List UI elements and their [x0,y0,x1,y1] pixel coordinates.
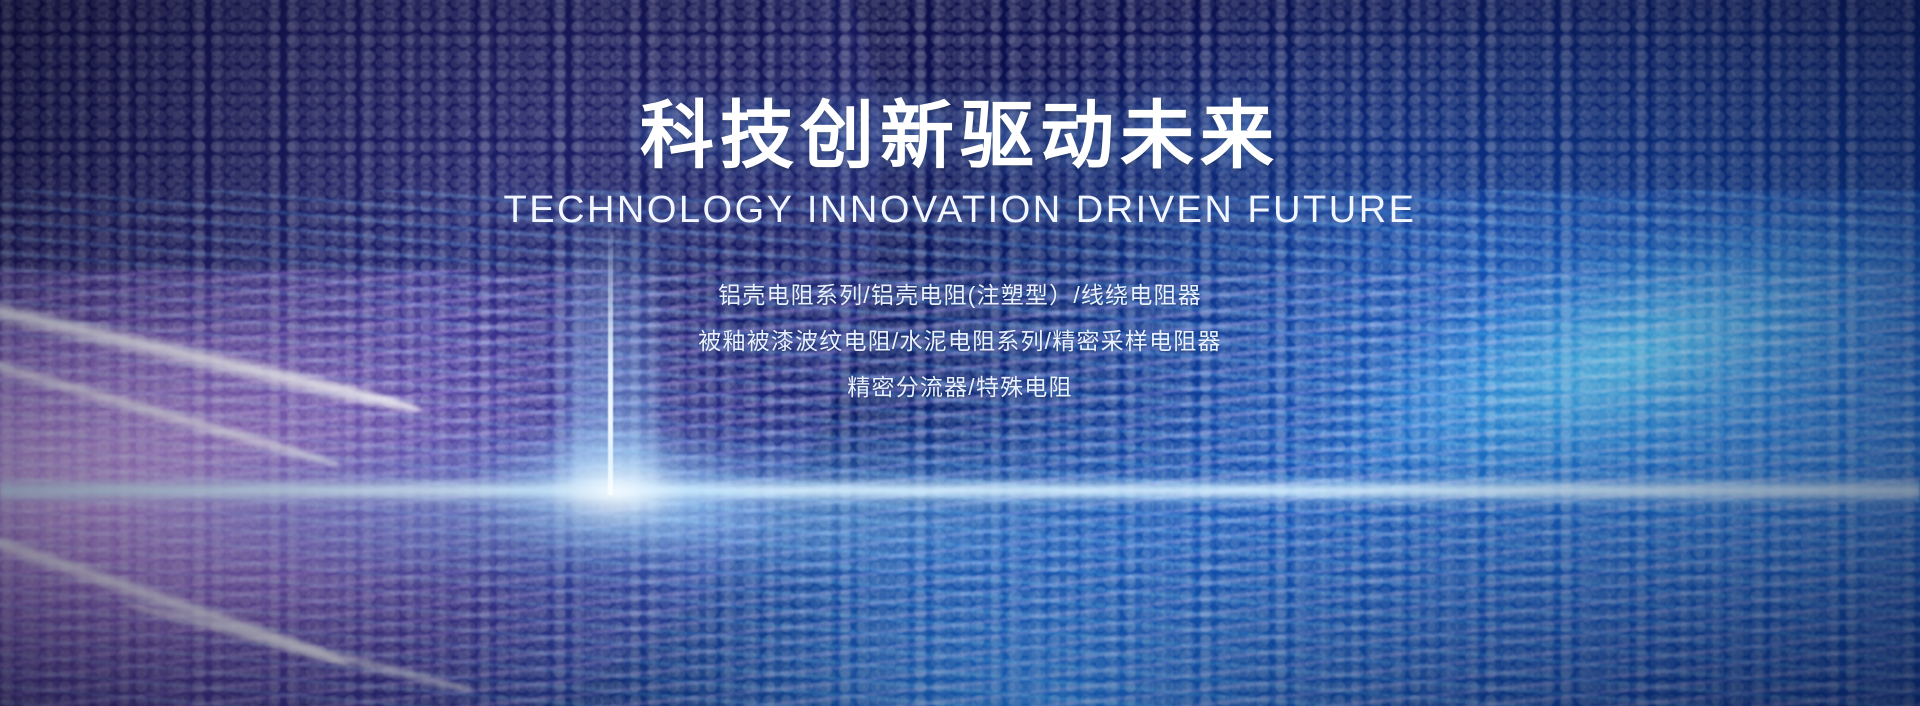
wave-crest-highlight-3 [0,517,352,675]
wave-crest-highlight-4 [123,597,476,700]
hero-banner: 科技创新驱动未来 TECHNOLOGY INNOVATION DRIVEN FU… [0,0,1920,706]
product-line-1: 铝壳电阻系列/铝壳电阻(注塑型）/线绕电阻器 [510,272,1410,318]
light-beam-burst [470,430,760,560]
product-line-2: 被釉被漆波纹电阻/水泥电阻系列/精密采样电阻器 [510,318,1410,364]
product-line-3: 精密分流器/特殊电阻 [510,364,1410,410]
horizon-glow-line [0,476,1920,506]
product-list: 铝壳电阻系列/铝壳电阻(注塑型）/线绕电阻器 被釉被漆波纹电阻/水泥电阻系列/精… [510,272,1410,410]
banner-title: 科技创新驱动未来 [0,0,1920,176]
horizon-glow-wide [0,430,1920,600]
banner-content: 科技创新驱动未来 TECHNOLOGY INNOVATION DRIVEN FU… [0,0,1920,410]
banner-subtitle: TECHNOLOGY INNOVATION DRIVEN FUTURE [0,190,1920,232]
